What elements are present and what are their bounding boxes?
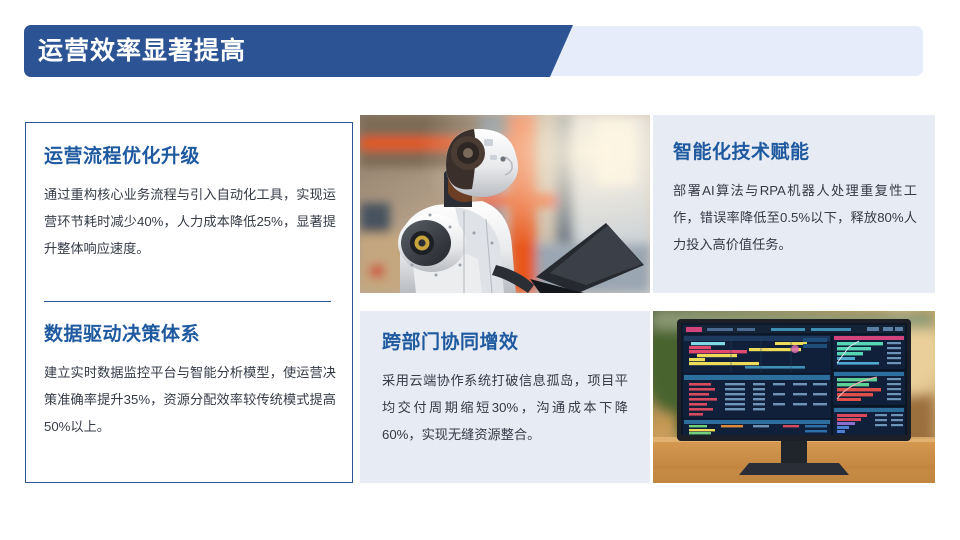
card-title: 数据驱动决策体系 bbox=[44, 323, 336, 347]
card-data-driven-decision: 数据驱动决策体系 建立实时数据监控平台与智能分析模型，使运营决策准确率提升35%… bbox=[44, 323, 336, 440]
card-body: 通过重构核心业务流程与引入自动化工具，实现运营环节耗时减少40%，人力成本降低2… bbox=[44, 181, 336, 262]
card-title: 运营流程优化升级 bbox=[44, 145, 336, 169]
dashboard-monitor-image bbox=[653, 311, 935, 483]
robot-warehouse-illustration bbox=[360, 115, 650, 293]
card-left-outlined: 运营流程优化升级 通过重构核心业务流程与引入自动化工具，实现运营环节耗时减少40… bbox=[25, 122, 353, 483]
card-divider bbox=[44, 301, 331, 302]
card-body: 采用云端协作系统打破信息孤岛，项目平均交付周期缩短30%，沟通成本下降60%，实… bbox=[382, 367, 628, 448]
card-body: 部署AI算法与RPA机器人处理重复性工作，错误率降低至0.5%以下，释放80%人… bbox=[673, 177, 917, 258]
card-title: 跨部门协同增效 bbox=[382, 331, 628, 355]
card-operational-process: 运营流程优化升级 通过重构核心业务流程与引入自动化工具，实现运营环节耗时减少40… bbox=[44, 145, 336, 262]
card-intelligent-technology: 智能化技术赋能 部署AI算法与RPA机器人处理重复性工作，错误率降低至0.5%以… bbox=[653, 115, 935, 293]
slide-header: 运营效率显著提高 bbox=[0, 0, 960, 100]
robot-warehouse-image bbox=[360, 115, 650, 293]
dashboard-monitor-illustration bbox=[653, 311, 935, 483]
card-body: 建立实时数据监控平台与智能分析模型，使运营决策准确率提升35%，资源分配效率较传… bbox=[44, 359, 336, 440]
page-title: 运营效率显著提高 bbox=[38, 25, 518, 77]
card-title: 智能化技术赋能 bbox=[673, 141, 917, 165]
card-cross-department: 跨部门协同增效 采用云端协作系统打破信息孤岛，项目平均交付周期缩短30%，沟通成… bbox=[360, 311, 650, 483]
